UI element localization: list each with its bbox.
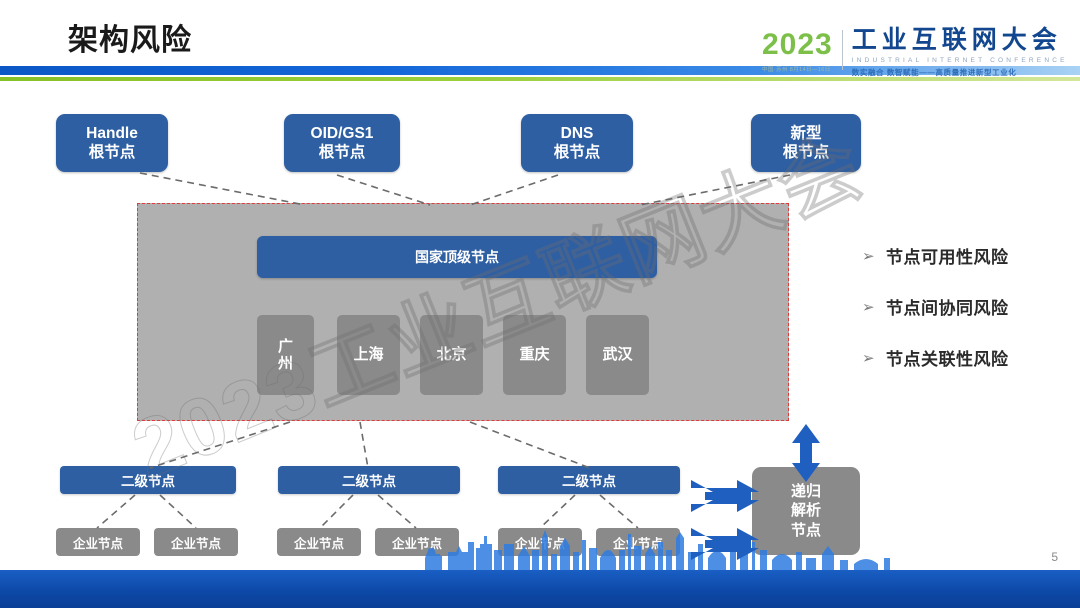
arrow-bullet-icon: ➢	[862, 247, 886, 265]
risk-bullet-item: ➢ 节点可用性风险	[862, 243, 1077, 268]
arrow-horizontal-secondary	[691, 480, 759, 512]
secondary-node-3[interactable]: 二级节点	[498, 466, 680, 494]
root-node-oid-gs1-line1: OID/GS1	[311, 124, 374, 143]
logo-text-block: 工业互联网大会 INDUSTRIAL INTERNET CONFERENCE 数…	[852, 28, 1068, 78]
root-node-new-type-line1: 新型	[790, 124, 821, 143]
arrow-bullet-icon: ➢	[862, 298, 886, 316]
recursive-node-line1: 递归	[791, 482, 821, 502]
risk-bullet-list: ➢ 节点可用性风险 ➢ 节点间协同风险 ➢ 节点关联性风险	[862, 243, 1077, 396]
slide-canvas: 架构风险 2023 中国·苏州 8月14日—16日 工业互联网大会 INDUST…	[0, 0, 1080, 608]
root-node-new-type[interactable]: 新型 根节点	[751, 114, 861, 172]
city-skyline-decoration	[0, 524, 1080, 576]
risk-bullet-label: 节点间协同风险	[886, 294, 1009, 319]
logo-main-title: 工业互联网大会	[852, 28, 1068, 53]
city-node-guangzhou-line2: 州	[278, 355, 293, 372]
risk-bullet-item: ➢ 节点间协同风险	[862, 294, 1077, 319]
logo-divider	[842, 30, 843, 70]
root-node-handle-line2: 根节点	[89, 143, 136, 162]
city-node-guangzhou-line1: 广	[278, 338, 293, 355]
city-node-guangzhou[interactable]: 广 州	[257, 315, 314, 395]
risk-bullet-label: 节点关联性风险	[886, 345, 1009, 370]
page-number: 5	[1051, 550, 1058, 564]
root-node-dns[interactable]: DNS 根节点	[521, 114, 633, 172]
city-node-wuhan[interactable]: 武汉	[586, 315, 649, 395]
risk-bullet-item: ➢ 节点关联性风险	[862, 345, 1077, 370]
arrow-bullet-icon: ➢	[862, 349, 886, 367]
root-node-oid-gs1-line2: 根节点	[319, 143, 366, 162]
city-node-beijing[interactable]: 北京	[420, 315, 483, 395]
logo-tagline: 数实融合 数智赋能——高质量推进新型工业化	[852, 67, 1068, 78]
logo-year: 2023	[762, 28, 833, 60]
footer-band	[0, 570, 1080, 608]
logo-year-block: 2023 中国·苏州 8月14日—16日	[762, 28, 833, 73]
city-node-shanghai[interactable]: 上海	[337, 315, 400, 395]
secondary-node-1[interactable]: 二级节点	[60, 466, 236, 494]
root-node-new-type-line2: 根节点	[783, 143, 830, 162]
root-node-dns-line2: 根节点	[554, 143, 601, 162]
recursive-node-line2: 解析	[791, 501, 821, 521]
conference-logo: 2023 中国·苏州 8月14日—16日 工业互联网大会 INDUSTRIAL …	[762, 28, 1072, 80]
root-node-oid-gs1[interactable]: OID/GS1 根节点	[284, 114, 400, 172]
logo-year-subtitle: 中国·苏州 8月14日—16日	[762, 65, 833, 73]
root-node-handle[interactable]: Handle 根节点	[56, 114, 168, 172]
secondary-node-2[interactable]: 二级节点	[278, 466, 460, 494]
risk-bullet-label: 节点可用性风险	[886, 243, 1009, 268]
national-top-level-node[interactable]: 国家顶级节点	[257, 236, 657, 278]
root-node-handle-line1: Handle	[86, 124, 138, 143]
page-title: 架构风险	[68, 26, 192, 56]
logo-english-title: INDUSTRIAL INTERNET CONFERENCE	[852, 57, 1068, 64]
city-node-chongqing[interactable]: 重庆	[503, 315, 566, 395]
root-node-dns-line1: DNS	[561, 124, 594, 143]
